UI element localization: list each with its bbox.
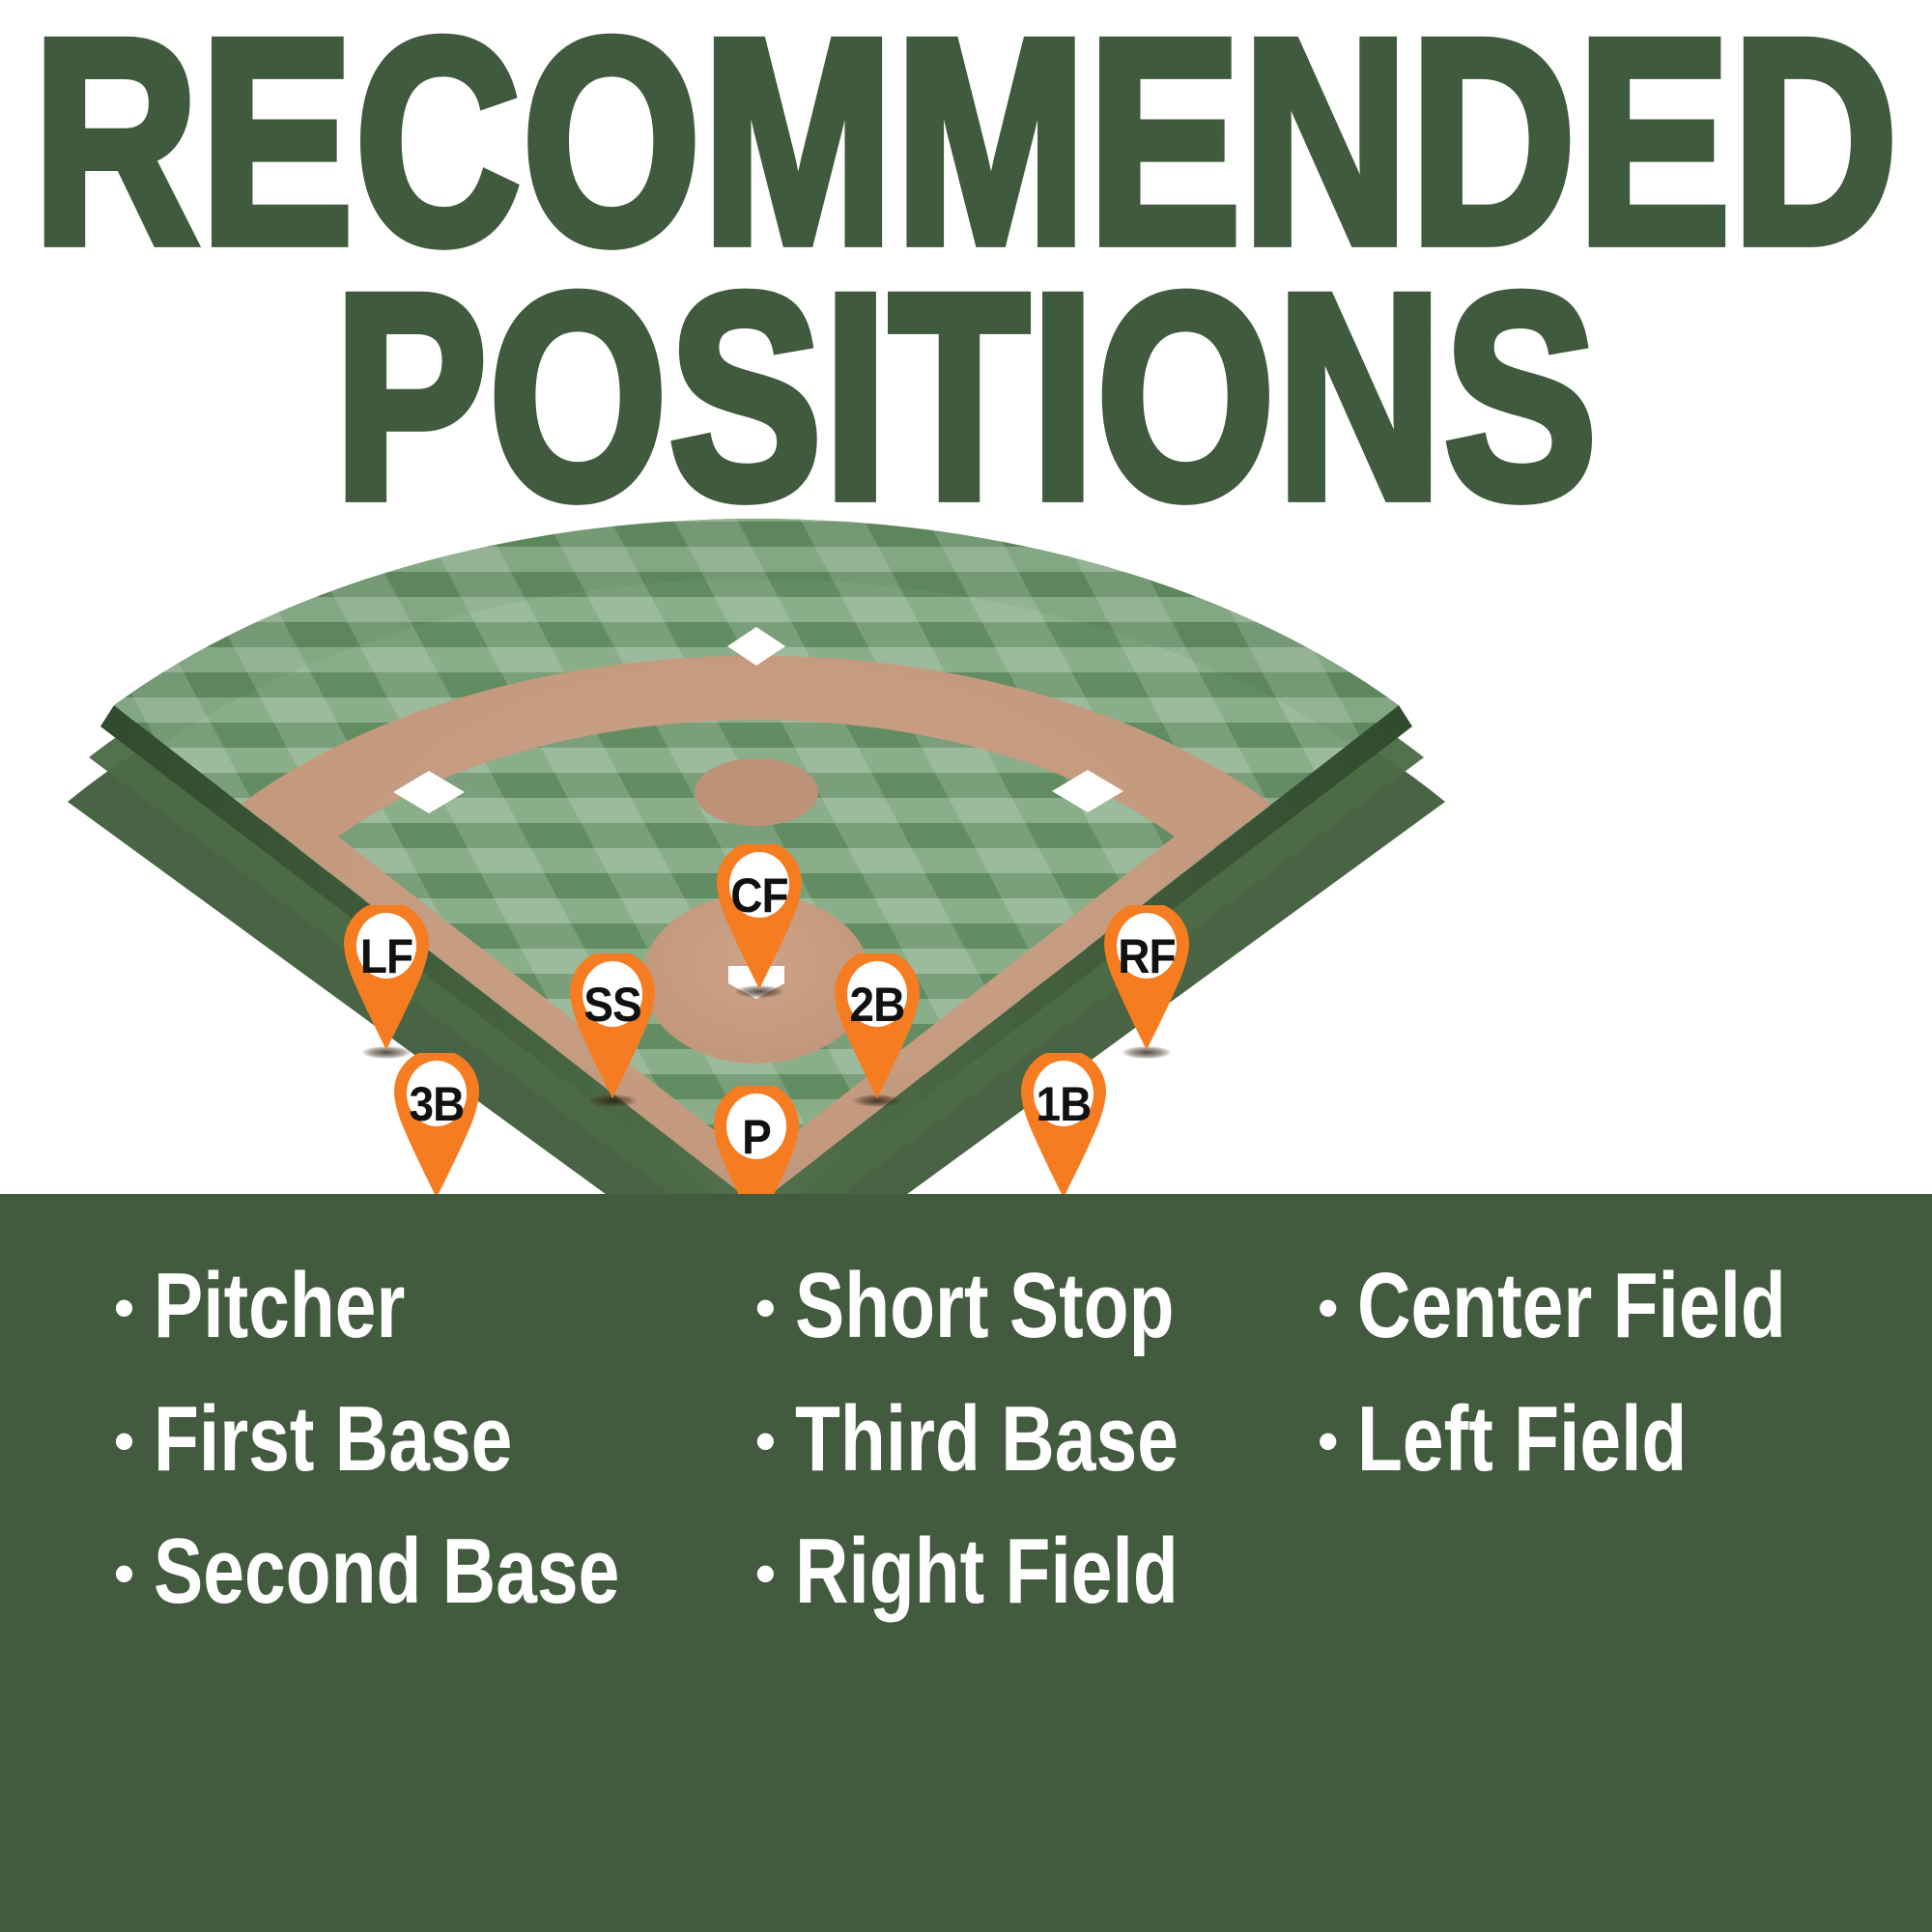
- position-list-item: •Pitcher: [114, 1244, 736, 1368]
- map-pin-icon: [1011, 1053, 1116, 1198]
- positions-column-2: •Short Stop•Third Base•Right Field: [736, 1244, 1296, 1634]
- positions-column-1: •Pitcher•First Base•Second Base: [39, 1244, 736, 1634]
- position-list-item: •First Base: [114, 1378, 736, 1501]
- position-marker-first-base[interactable]: 1B: [1011, 1053, 1116, 1198]
- position-list-item: •Short Stop: [755, 1244, 1296, 1368]
- position-marker-left-field[interactable]: LF: [334, 905, 439, 1050]
- bullet-icon: •: [755, 1545, 776, 1603]
- position-marker-right-field[interactable]: RF: [1094, 905, 1199, 1050]
- position-name: Second Base: [154, 1510, 619, 1634]
- position-list-item: •Center Field: [1318, 1244, 1893, 1368]
- position-list-item: •Right Field: [755, 1510, 1296, 1634]
- bullet-icon: •: [1318, 1279, 1338, 1337]
- position-name: Pitcher: [154, 1244, 405, 1368]
- position-name: Center Field: [1357, 1244, 1786, 1368]
- bullet-icon: •: [1318, 1412, 1338, 1470]
- position-list-item: •Second Base: [114, 1510, 736, 1634]
- position-name: Short Stop: [795, 1244, 1174, 1368]
- position-marker-center-field[interactable]: CF: [707, 844, 811, 989]
- position-marker-second-base[interactable]: 2B: [825, 953, 929, 1098]
- map-pin-icon: [334, 905, 439, 1050]
- bullet-icon: •: [114, 1279, 134, 1337]
- position-name: Right Field: [795, 1510, 1179, 1634]
- map-pin-icon: [1094, 905, 1199, 1050]
- position-list-item: •Third Base: [755, 1378, 1296, 1501]
- positions-column-3: •Center Field•Left Field: [1296, 1244, 1893, 1500]
- title-line-recommended: RECOMMENDED: [33, 25, 1899, 258]
- bullet-icon: •: [755, 1279, 776, 1337]
- map-pin-icon: [707, 844, 811, 989]
- map-pin-icon: [560, 953, 665, 1098]
- baseball-field-illustration: LFCFRFSS2B3B1BP: [0, 446, 1932, 1209]
- page-title: RECOMMENDED POSITIONS: [0, 0, 1932, 454]
- position-list-item: •Left Field: [1318, 1378, 1893, 1501]
- bullet-icon: •: [114, 1412, 134, 1470]
- bullet-icon: •: [114, 1545, 134, 1603]
- recommended-positions-list: •Pitcher•First Base•Second Base •Short S…: [0, 1194, 1932, 1932]
- bullet-icon: •: [755, 1412, 776, 1470]
- map-pin-icon: [384, 1053, 489, 1198]
- position-marker-short-stop[interactable]: SS: [560, 953, 665, 1098]
- position-name: First Base: [154, 1378, 512, 1501]
- position-name: Left Field: [1357, 1378, 1687, 1501]
- map-pin-icon: [825, 953, 929, 1098]
- position-name: Third Base: [795, 1378, 1179, 1501]
- baseball-field-svg: [0, 446, 1932, 1209]
- position-marker-third-base[interactable]: 3B: [384, 1053, 489, 1198]
